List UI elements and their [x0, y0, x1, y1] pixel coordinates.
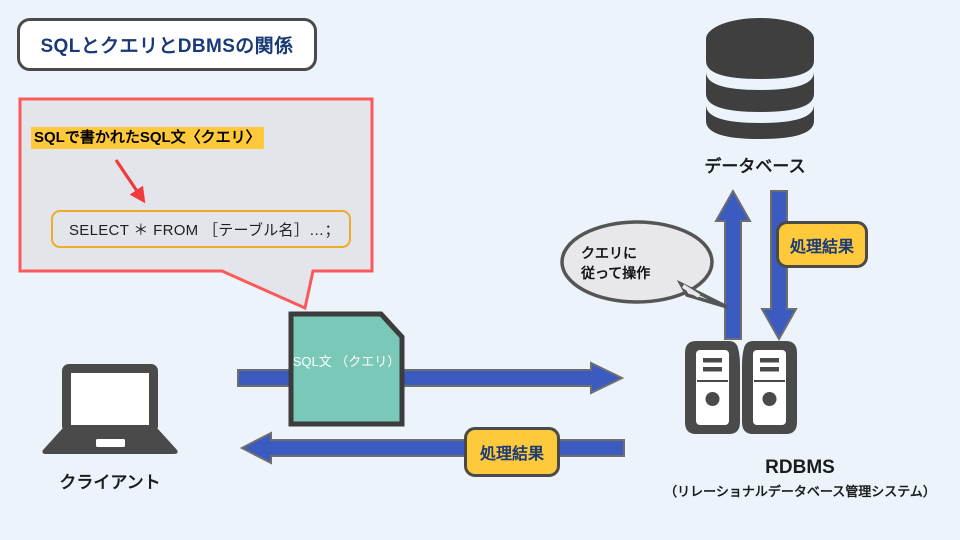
- db-result-badge: 処理結果: [776, 221, 868, 268]
- client-caption: クライアント: [0, 468, 220, 493]
- rdbms-subcaption: （リレーショナルデータベース管理システム）: [590, 481, 960, 500]
- diagram-canvas: SQLとクエリとDBMSの関係 SQLで書かれたSQL文〈クエリ〉 SELECT…: [0, 0, 960, 540]
- callout-label: SQLで書かれたSQL文〈クエリ〉: [31, 127, 264, 149]
- sql-code-text: SELECT ＊ FROM ［テーブル名］…；: [69, 219, 340, 240]
- database-caption: データベース: [640, 152, 870, 177]
- speech-bubble-text: クエリに 従って操作: [581, 243, 691, 284]
- sql-document-shape: SQL文 （クエリ）: [288, 311, 405, 427]
- page-title: SQLとクエリとDBMSの関係: [40, 31, 293, 58]
- rdbms-caption: RDBMS: [640, 457, 960, 479]
- speech-bubble: クエリに 従って操作: [559, 219, 729, 311]
- laptop-icon: [40, 358, 180, 458]
- callout-box: SQLで書かれたSQL文〈クエリ〉 SELECT ＊ FROM ［テーブル名］……: [18, 97, 374, 273]
- server-rack-icon: [683, 336, 799, 444]
- response-arrow: [240, 431, 626, 465]
- sql-code-box: SELECT ＊ FROM ［テーブル名］…；: [51, 210, 351, 248]
- document-icon: [288, 311, 405, 427]
- page-title-box: SQLとクエリとDBMSの関係: [17, 18, 317, 71]
- database-cylinder-icon: [700, 15, 820, 145]
- response-result-badge: 処理結果: [464, 427, 560, 477]
